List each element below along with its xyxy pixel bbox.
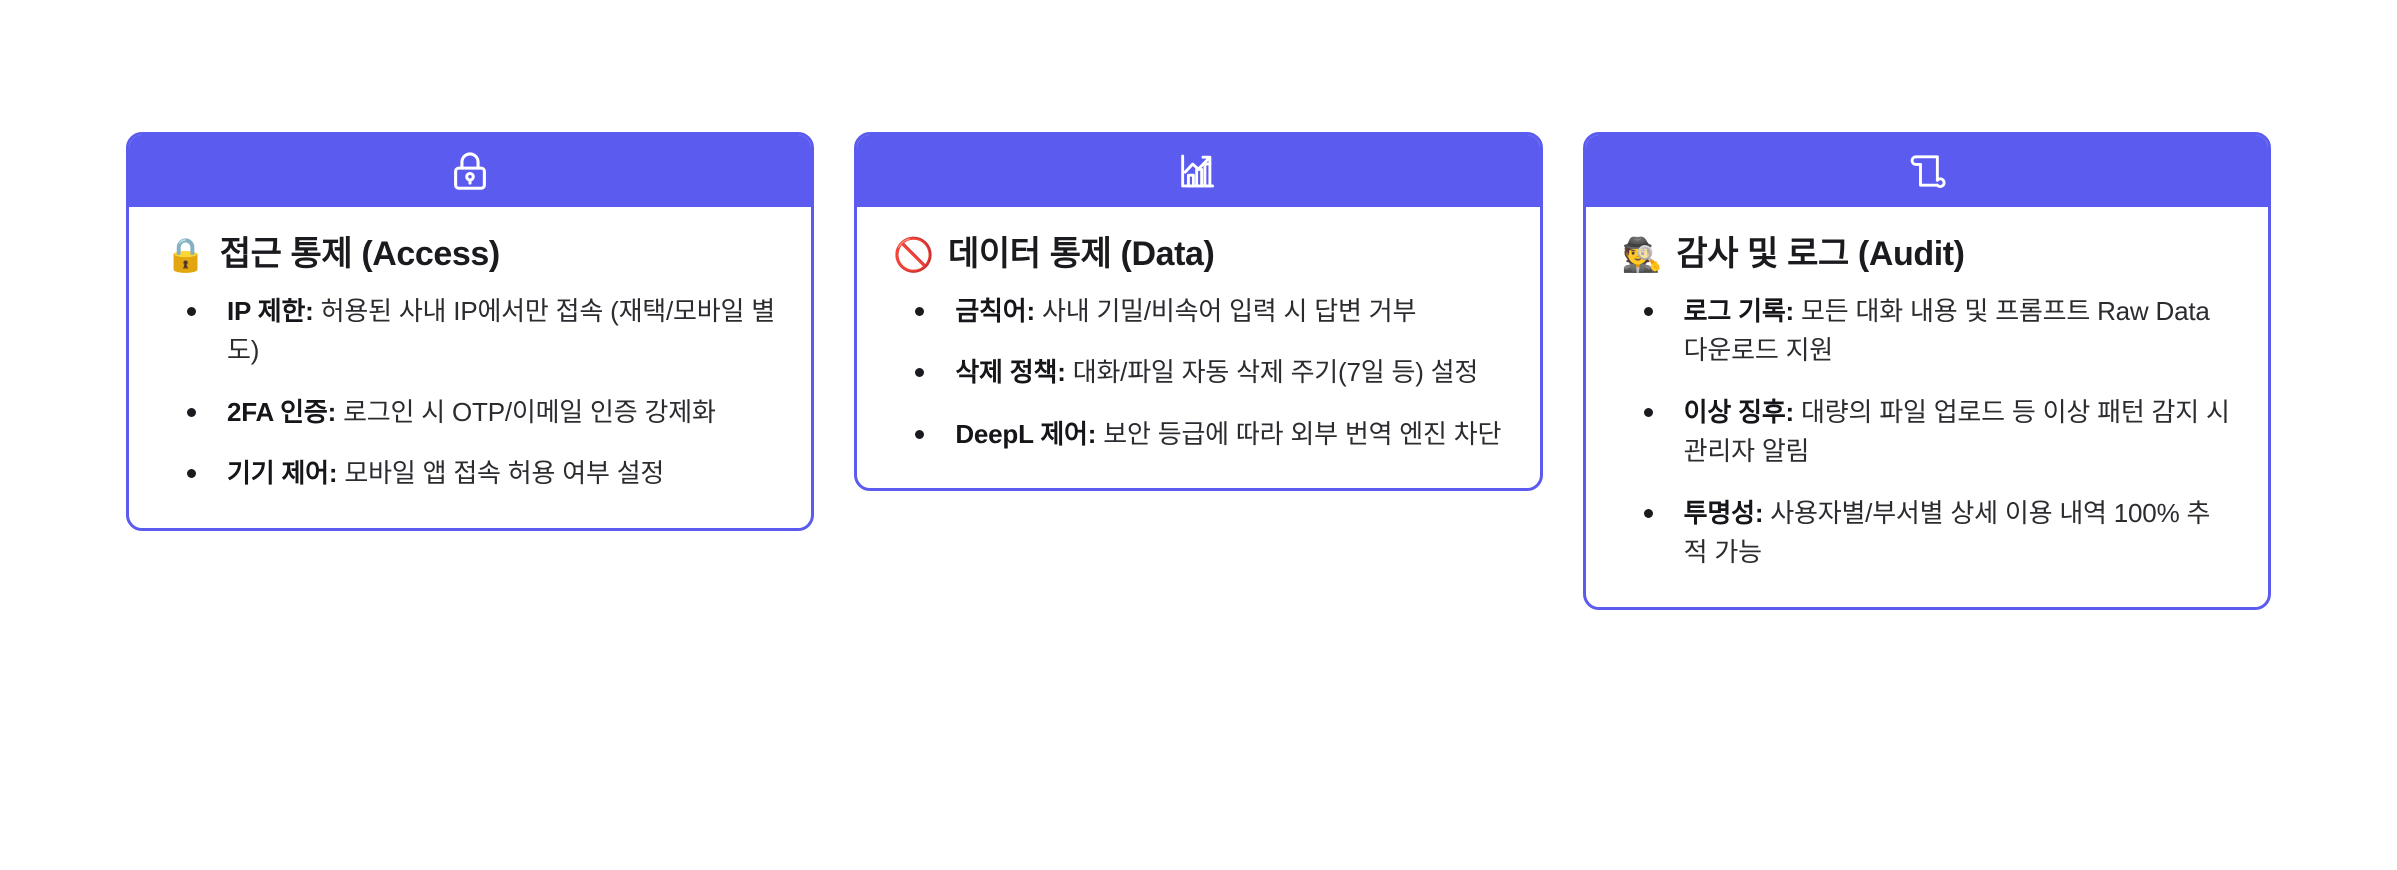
bullet-list-access: IP 제한: 허용된 사내 IP에서만 접속 (재택/모바일 별도) 2FA 인… <box>165 292 775 494</box>
card-body-access: 🔒 접근 통제 (Access) IP 제한: 허용된 사내 IP에서만 접속 … <box>129 207 811 528</box>
list-item: 기기 제어: 모바일 앱 접속 허용 여부 설정 <box>165 454 775 494</box>
list-item: IP 제한: 허용된 사내 IP에서만 접속 (재택/모바일 별도) <box>165 292 775 371</box>
list-item: 투명성: 사용자별/부서별 상세 이용 내역 100% 추적 가능 <box>1622 494 2232 573</box>
bullet-rest: 대화/파일 자동 삭제 주기(7일 등) 설정 <box>1066 357 1478 387</box>
bullet-rest: 모바일 앱 접속 허용 여부 설정 <box>337 458 664 488</box>
chart-increasing-icon <box>1175 148 1221 194</box>
security-controls-card-board: 🔒 접근 통제 (Access) IP 제한: 허용된 사내 IP에서만 접속 … <box>0 0 2397 870</box>
bullet-lead: 삭제 정책: <box>955 357 1065 387</box>
bullet-lead: 투명성: <box>1684 498 1764 528</box>
bullet-lead: 기기 제어: <box>227 458 337 488</box>
scroll-icon <box>1904 148 1950 194</box>
bullet-rest: 로그인 시 OTP/이메일 인증 강제화 <box>336 397 716 427</box>
card-title-access: 🔒 접근 통제 (Access) <box>165 233 775 276</box>
bullet-rest: 사내 기밀/비속어 입력 시 답변 거부 <box>1035 296 1416 326</box>
list-item: 2FA 인증: 로그인 시 OTP/이메일 인증 강제화 <box>165 393 775 433</box>
bullet-lead: DeepL 제어: <box>955 419 1096 449</box>
card-body-data: 🚫 데이터 통제 (Data) 금칙어: 사내 기밀/비속어 입력 시 답변 거… <box>857 207 1539 488</box>
lock-icon <box>447 148 493 194</box>
card-header-audit <box>1586 135 2268 207</box>
bullet-rest: 사용자별/부서별 상세 이용 내역 100% 추적 가능 <box>1684 498 2211 568</box>
bullet-rest-tail: 지원 <box>1779 335 1833 365</box>
bullet-lead: 금칙어: <box>955 296 1035 326</box>
card-title-text: 접근 통제 (Access) <box>220 233 500 276</box>
list-item: DeepL 제어: 보안 등급에 따라 외부 번역 엔진 차단 <box>893 415 1503 455</box>
detective-emoji-icon: 🕵️ <box>1622 238 1663 271</box>
list-item: 이상 징후: 대량의 파일 업로드 등 이상 패턴 감지 시 관리자 알림 <box>1622 393 2232 472</box>
card-title-data: 🚫 데이터 통제 (Data) <box>893 233 1503 276</box>
list-item: 금칙어: 사내 기밀/비속어 입력 시 답변 거부 <box>893 292 1503 332</box>
card-access-control: 🔒 접근 통제 (Access) IP 제한: 허용된 사내 IP에서만 접속 … <box>126 132 814 531</box>
card-title-text: 데이터 통제 (Data) <box>948 233 1214 276</box>
card-audit-log: 🕵️ 감사 및 로그 (Audit) 로그 기록: 모든 대화 내용 및 프롬프… <box>1583 132 2271 610</box>
bullet-lead: 로그 기록: <box>1684 296 1794 326</box>
bullet-rest: 보안 등급에 따라 외부 번역 엔진 차단 <box>1096 419 1501 449</box>
prohibited-emoji-icon: 🚫 <box>893 238 934 271</box>
list-item: 삭제 정책: 대화/파일 자동 삭제 주기(7일 등) 설정 <box>893 353 1503 393</box>
bullet-list-data: 금칙어: 사내 기밀/비속어 입력 시 답변 거부 삭제 정책: 대화/파일 자… <box>893 292 1503 455</box>
bullet-lead: IP 제한: <box>227 296 314 326</box>
bullet-rest: 모든 대화 내용 및 프롬프트 <box>1794 296 2097 326</box>
card-header-data <box>857 135 1539 207</box>
bullet-list-audit: 로그 기록: 모든 대화 내용 및 프롬프트 Raw Data 다운로드 지원 … <box>1622 292 2232 573</box>
card-title-audit: 🕵️ 감사 및 로그 (Audit) <box>1622 233 2232 276</box>
card-data-control: 🚫 데이터 통제 (Data) 금칙어: 사내 기밀/비속어 입력 시 답변 거… <box>854 132 1542 491</box>
card-header-access <box>129 135 811 207</box>
card-title-text: 감사 및 로그 (Audit) <box>1676 233 1964 276</box>
card-body-audit: 🕵️ 감사 및 로그 (Audit) 로그 기록: 모든 대화 내용 및 프롬프… <box>1586 207 2268 607</box>
lock-emoji-icon: 🔒 <box>165 238 206 271</box>
bullet-lead: 이상 징후: <box>1684 397 1794 427</box>
list-item: 로그 기록: 모든 대화 내용 및 프롬프트 Raw Data 다운로드 지원 <box>1622 292 2232 371</box>
bullet-lead: 2FA 인증: <box>227 397 336 427</box>
